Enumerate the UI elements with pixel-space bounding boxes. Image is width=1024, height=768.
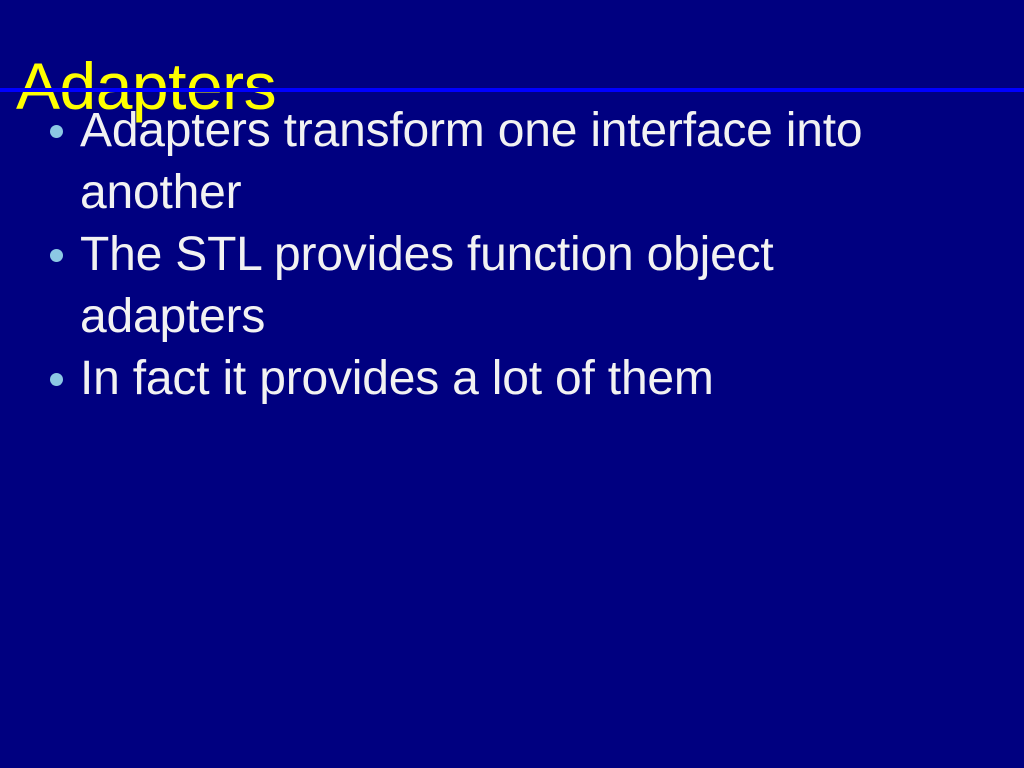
disc-bullet-icon — [50, 249, 63, 262]
list-item-text: Adapters transform one interface into an… — [80, 100, 960, 224]
list-item-line: The STL provides function object — [80, 224, 960, 286]
list-item-line: another — [80, 162, 960, 224]
list-item-text: The STL provides function object adapter… — [80, 224, 960, 348]
presentation-slide: Adapters Adapters transform one interfac… — [0, 0, 1024, 768]
list-item: Adapters transform one interface into an… — [0, 100, 1024, 224]
disc-bullet-icon — [50, 125, 63, 138]
list-item-line: Adapters transform one interface into — [80, 100, 960, 162]
list-item: The STL provides function object adapter… — [0, 224, 1024, 348]
list-item-line: In fact it provides a lot of them — [80, 348, 960, 410]
disc-bullet-icon — [50, 373, 63, 386]
bullet-list: Adapters transform one interface into an… — [0, 100, 1024, 410]
title-divider-rule — [0, 88, 1024, 92]
list-item-text: In fact it provides a lot of them — [80, 348, 960, 410]
list-item-line: adapters — [80, 286, 960, 348]
list-item: In fact it provides a lot of them — [0, 348, 1024, 410]
